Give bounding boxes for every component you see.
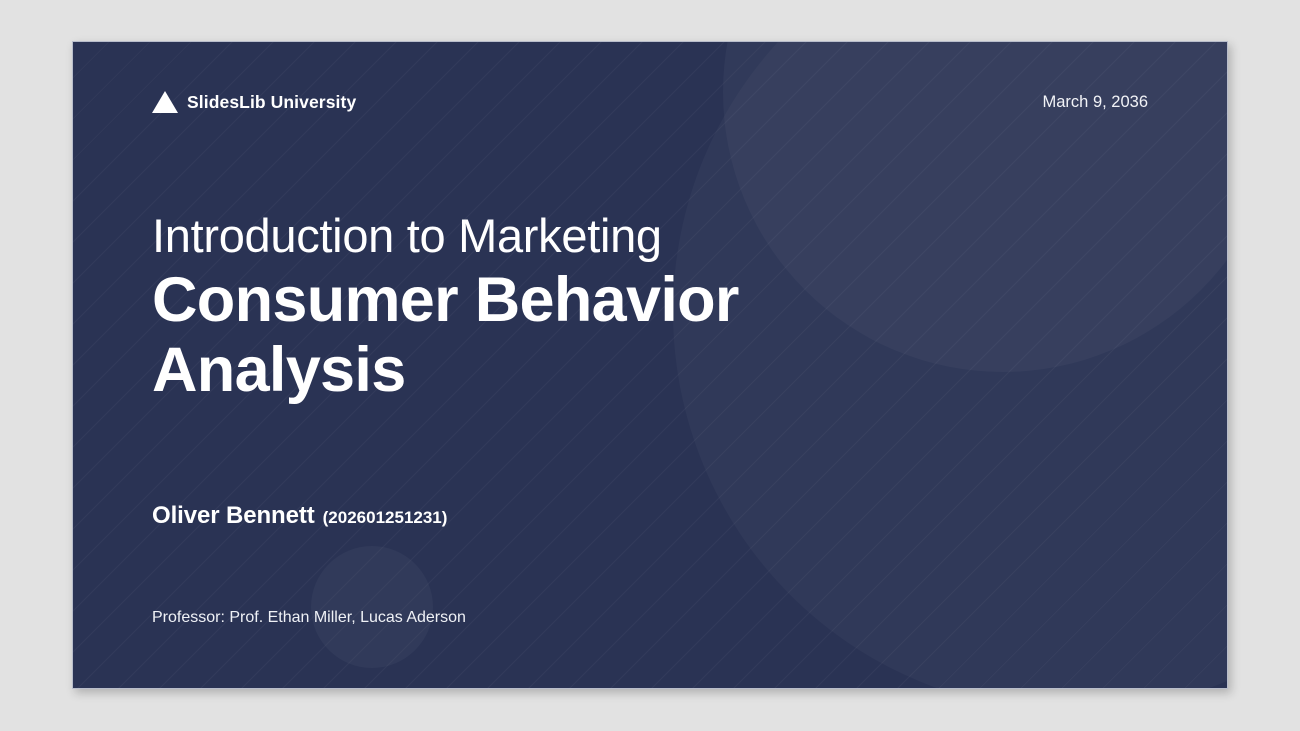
page-title: Consumer Behavior Analysis [152,265,972,406]
professor-line: Professor: Prof. Ethan Miller, Lucas Ade… [152,609,466,627]
university-name: SlidesLib University [187,92,356,113]
triangle-logo-icon [152,91,178,113]
author-student-id: (202601251231) [323,508,448,528]
author-name: Oliver Bennett [152,502,315,530]
slide-content: SlidesLib University March 9, 2036 Intro… [73,42,1227,688]
brand-lockup: SlidesLib University [152,91,356,113]
title-block: Introduction to Marketing Consumer Behav… [152,210,972,406]
title-slide[interactable]: SlidesLib University March 9, 2036 Intro… [72,41,1228,689]
slide-header: SlidesLib University March 9, 2036 [152,91,1148,113]
slide-date: March 9, 2036 [1043,93,1148,112]
presentation-viewport: SlidesLib University March 9, 2036 Intro… [0,0,1300,731]
author-block: Oliver Bennett (202601251231) [152,502,447,530]
course-title: Introduction to Marketing [152,210,972,263]
